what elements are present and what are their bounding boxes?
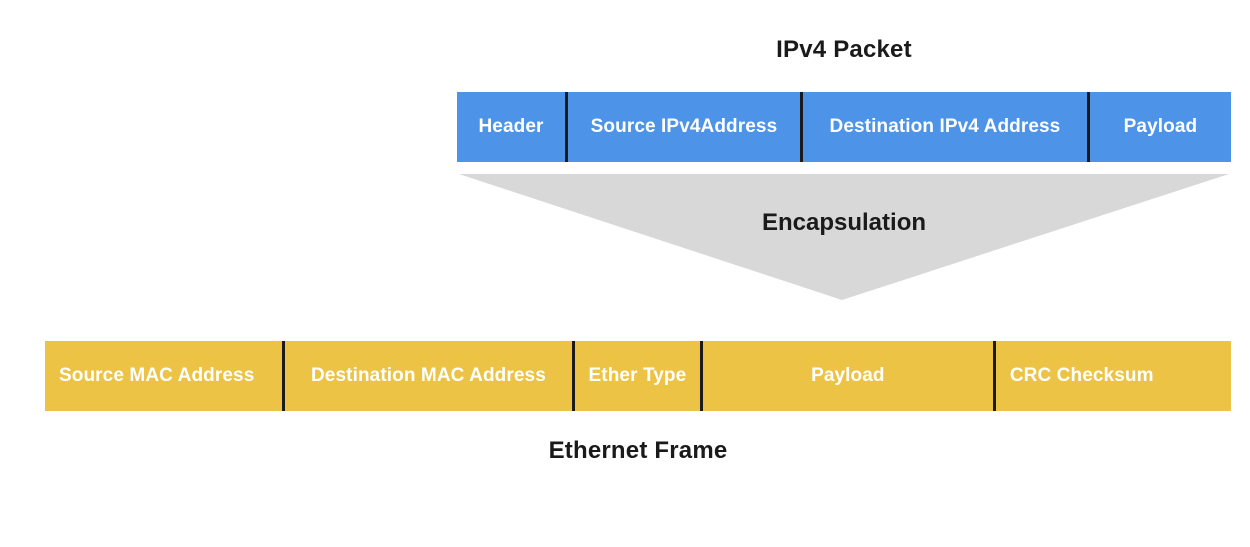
ethernet-field-source-mac: Source MAC Address bbox=[45, 341, 282, 411]
ethernet-field-destination-mac: Destination MAC Address bbox=[282, 341, 572, 411]
ethernet-frame-title: Ethernet Frame bbox=[45, 437, 1231, 465]
ipv4-field-header: Header bbox=[457, 92, 565, 162]
ethernet-frame-bar: Source MAC Address Destination MAC Addre… bbox=[45, 341, 1231, 411]
encapsulation-label: Encapsulation bbox=[457, 209, 1231, 237]
ipv4-packet-title: IPv4 Packet bbox=[457, 36, 1231, 64]
encapsulation-arrow-icon bbox=[457, 172, 1231, 302]
ipv4-packet-bar: Header Source IPv4Address Destination IP… bbox=[457, 92, 1231, 162]
ipv4-field-source-address: Source IPv4Address bbox=[565, 92, 800, 162]
ethernet-field-ether-type: Ether Type bbox=[572, 341, 700, 411]
ipv4-field-destination-address: Destination IPv4 Address bbox=[800, 92, 1087, 162]
ethernet-field-crc-checksum: CRC Checksum bbox=[993, 341, 1231, 411]
ipv4-field-payload: Payload bbox=[1087, 92, 1231, 162]
ethernet-field-payload: Payload bbox=[700, 341, 993, 411]
